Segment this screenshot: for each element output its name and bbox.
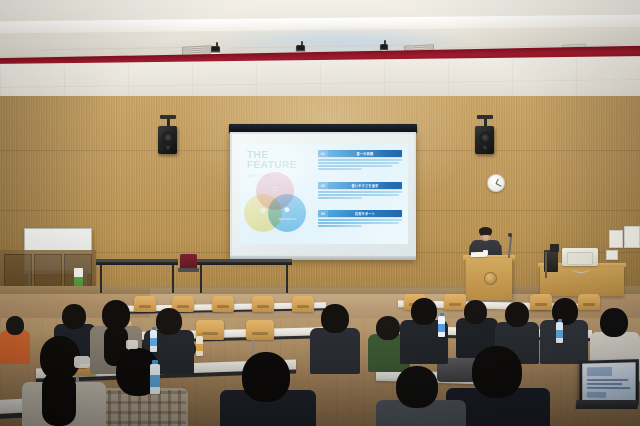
audience-chair[interactable] [444,294,466,310]
section-title: 第一の特徴 [328,151,402,156]
front-table-right [196,262,292,265]
text-line [318,219,402,221]
speaker-left [158,126,177,154]
clock-minute-hand [496,183,502,187]
chair-slot [139,305,151,308]
green-canister [74,268,83,288]
section-header: 01 第一の特徴 [318,150,402,157]
speaker-mount-plate [477,115,493,119]
person-head [62,304,86,329]
text-line [318,225,362,227]
section-title: 充実サポート [328,211,402,216]
text-line [318,197,362,199]
chair-slot [217,305,229,308]
speaker-mount-plate [160,115,176,119]
audience-chair[interactable] [292,296,314,312]
section-body [318,159,402,170]
presentation-slide: THE FEATURE 特徴・こだわり ⌂ ⊕ ☻ FEATURE 03 01 … [240,144,408,244]
chair-slot [449,303,461,306]
table-leg [100,265,102,293]
section-number: 01 [318,150,328,157]
speaker-tweeter [482,145,488,150]
chair-slot [297,305,309,308]
audience-chair[interactable] [212,296,234,312]
table-leg [172,265,174,293]
section-body [318,219,402,227]
section-number: 02 [318,182,328,189]
text-line [318,165,392,167]
audience-chair[interactable] [134,296,156,312]
chair-slot [177,305,189,308]
person-head [464,300,487,324]
text-line [318,191,402,193]
bottle-cap [440,313,444,316]
audience-chair[interactable] [252,296,274,312]
venn-label-bottom-right: FEATURE 03 [268,218,306,221]
table-leg [286,265,288,293]
audience-chair[interactable] [578,294,600,310]
text-line [318,162,399,164]
chair-slot [257,305,269,308]
wall-notice [624,226,640,248]
section-title: 使いやすさを追求 [328,183,402,188]
shop-icon: ⌂ [256,185,294,193]
section-header: 03 充実サポート [318,210,402,217]
section-body [318,191,402,199]
speaker-right [475,126,494,154]
chair-slot [583,303,595,306]
section-number: 03 [318,210,328,217]
wall-clock [487,174,505,192]
person-head [552,298,578,325]
person-head [505,302,529,327]
spotlight-lens [381,45,387,49]
lecture-hall-photo: THE FEATURE 特徴・こだわり ⌂ ⊕ ☻ FEATURE 03 01 … [0,0,640,426]
slide-section-02: 02 使いやすさを追求 [318,182,402,200]
speaker-cone [479,132,490,143]
speaker-tweeter [165,145,171,150]
microphone-icon [508,233,512,237]
floor-pole [545,252,547,278]
chair-slot [535,303,547,306]
speaker-cone [162,132,173,143]
front-table-left [96,262,178,265]
text-line [318,159,402,161]
wall-notice [606,250,618,260]
presenter-hair [479,227,492,235]
av-cable [572,264,590,273]
people-icon: ☻ [268,206,306,214]
text-line [318,222,399,224]
section-header: 02 使いやすさを追求 [318,182,402,189]
bottle-cap [558,319,562,322]
person-head [411,298,437,325]
table-leg [200,265,202,293]
audience-shadow [0,330,640,426]
lectern-crest-icon [484,272,497,285]
av-equipment-unit [550,244,559,252]
slide-section-01: 01 第一の特徴 [318,150,402,171]
stage-chair-seat [178,268,199,272]
slide-section-03: 03 充実サポート [318,210,402,228]
text-line [318,168,362,170]
lectern-notes [471,252,487,258]
audience-chair[interactable] [530,294,552,310]
text-line [318,194,399,196]
venn-diagram: ⌂ ⊕ ☻ FEATURE 03 [240,144,314,244]
person-head [321,304,349,333]
spotlight-lens [297,46,304,50]
wall-notice [609,230,623,248]
spotlight-lens [212,47,219,51]
